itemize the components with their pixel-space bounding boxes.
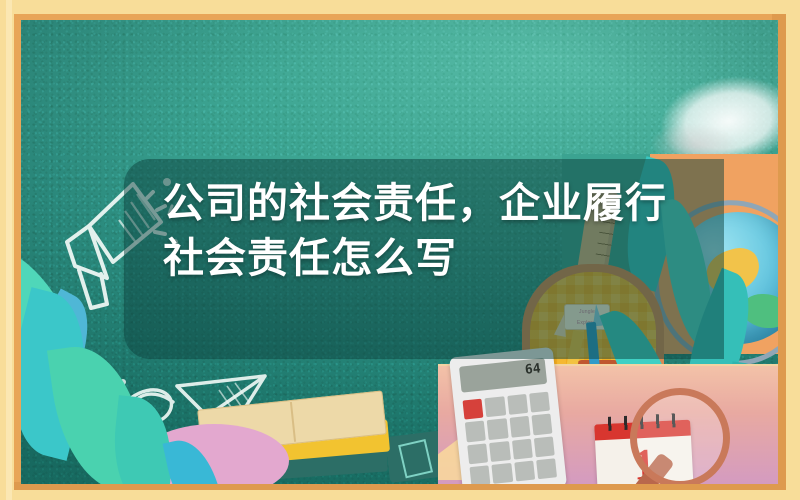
frame-highlight <box>6 0 12 500</box>
calculator-key-ac <box>463 399 484 420</box>
calculator-key <box>509 416 530 437</box>
calculator-key <box>467 443 488 464</box>
calculator-key <box>465 421 486 442</box>
calculator-key <box>492 463 513 484</box>
calculator-key <box>489 441 510 462</box>
calculator-display-value: 64 <box>524 361 541 378</box>
banner-image: Jungle Explorer 64 <box>0 0 800 500</box>
page-title-line-1: 公司的社会责任，企业履行 <box>163 176 723 231</box>
calculator-key <box>487 418 508 439</box>
calculator-key <box>531 414 552 435</box>
page-title-line-2: 社会责任怎么写 <box>163 231 723 286</box>
calculator-key <box>514 460 535 481</box>
page-title: 公司的社会责任，企业履行 社会责任怎么写 <box>163 176 723 286</box>
calculator-keypad <box>463 392 558 484</box>
calculator-icon: 64 <box>449 347 567 484</box>
calculator-key <box>469 465 490 484</box>
calculator-key <box>507 394 528 415</box>
magnifier-icon <box>630 388 730 484</box>
calculator-screen: 64 <box>459 358 547 393</box>
calculator-key <box>529 392 550 413</box>
calculator-key <box>534 436 555 457</box>
calculator-key <box>536 458 557 479</box>
calculator-key <box>511 438 532 459</box>
calculator-key <box>485 396 506 417</box>
